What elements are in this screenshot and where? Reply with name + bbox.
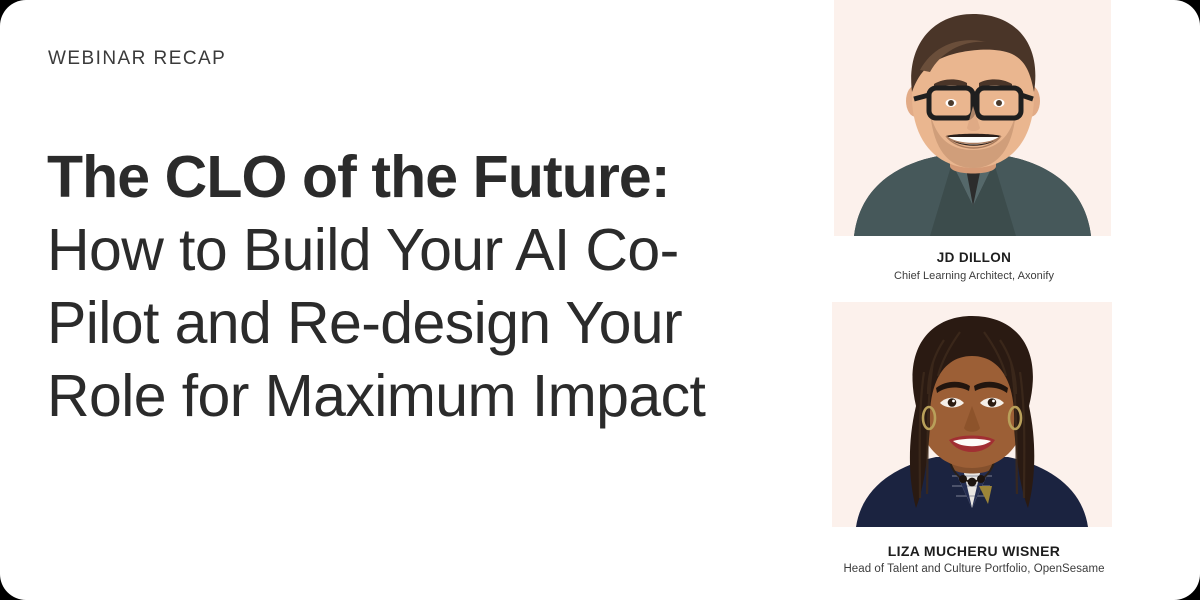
speaker-caption-1: JD DILLON Chief Learning Architect, Axon… xyxy=(824,250,1124,283)
speaker-card-2: LIZA MUCHERU WISNER Head of Talent and C… xyxy=(820,302,1200,577)
speaker-photo-1 xyxy=(834,0,1111,236)
speaker-name-2: LIZA MUCHERU WISNER xyxy=(816,543,1132,559)
page-title: The CLO of the Future: How to Build Your… xyxy=(47,141,707,433)
speaker-caption-2: LIZA MUCHERU WISNER Head of Talent and C… xyxy=(816,543,1132,577)
speaker-name-1: JD DILLON xyxy=(824,250,1124,266)
headline-strong: The CLO of the Future: xyxy=(47,144,670,210)
speaker-photo-2 xyxy=(832,302,1112,527)
speakers-column: JD DILLON Chief Learning Architect, Axon… xyxy=(820,0,1200,600)
speaker-title-2: Head of Talent and Culture Portfolio, Op… xyxy=(816,563,1132,577)
headline-regular: How to Build Your AI Co-Pilot and Re-des… xyxy=(47,217,705,429)
eyebrow-label: WEBINAR RECAP xyxy=(48,49,226,68)
speaker-card-1: JD DILLON Chief Learning Architect, Axon… xyxy=(820,0,1200,283)
webinar-recap-card: WEBINAR RECAP The CLO of the Future: How… xyxy=(0,0,1200,600)
speaker-title-1: Chief Learning Architect, Axonify xyxy=(824,270,1124,283)
headshot-liza-mucheru-wisner-illustration xyxy=(832,302,1112,527)
headline-column: WEBINAR RECAP The CLO of the Future: How… xyxy=(47,0,747,600)
headshot-jd-dillon-illustration xyxy=(834,0,1111,236)
